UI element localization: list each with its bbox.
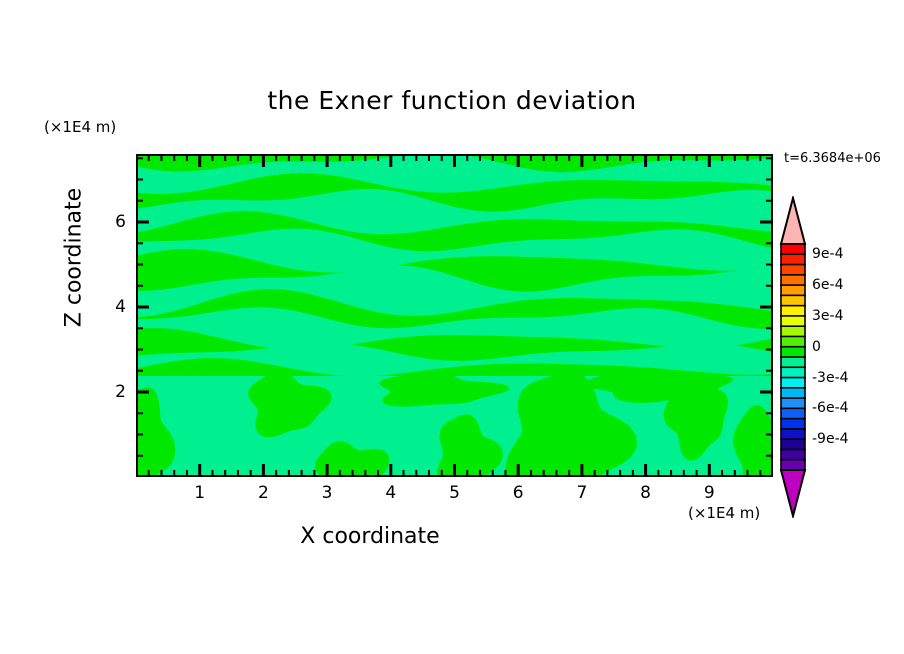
y-tick-label: 4 [102,297,126,317]
colorbar-over-tip [781,198,805,244]
colorbar-swatch [781,439,805,450]
colorbar-swatch [781,326,805,337]
x-tick-label: 8 [640,483,651,503]
colorbar-tick-label: 9e-4 [812,246,843,262]
colorbar-tick-label: 3e-4 [812,308,843,324]
x-tick-label: 6 [513,483,524,503]
colorbar [778,196,808,518]
colorbar-swatch [781,398,805,409]
chart-title: the Exner function deviation [0,86,904,115]
colorbar-under-tip [781,470,805,516]
contour-plot-area [136,154,773,477]
colorbar-swatch [781,388,805,399]
y-axis-title: Z coordinate [62,158,87,358]
colorbar-swatch [781,419,805,430]
colorbar-swatch [781,275,805,286]
colorbar-swatch [781,460,805,471]
colorbar-swatch [781,295,805,306]
colorbar-tick-label: -9e-4 [812,431,849,447]
colorbar-gradient [778,196,808,518]
colorbar-swatch [781,316,805,327]
colorbar-swatch [781,347,805,358]
x-axis-title: X coordinate [0,524,740,549]
colorbar-swatch [781,244,805,255]
colorbar-tick-label: 6e-4 [812,277,843,293]
colorbar-swatch [781,336,805,347]
colorbar-swatch [781,306,805,317]
y-tick-label: 2 [102,382,126,402]
colorbar-tick-label: -3e-4 [812,370,849,386]
contour-field [136,154,773,477]
colorbar-swatch [781,285,805,296]
x-tick-label: 2 [258,483,269,503]
x-tick-label: 5 [449,483,460,503]
y-axis-unit-label: (×1E4 m) [44,118,116,136]
x-axis-unit-label: (×1E4 m) [688,504,760,522]
y-tick-label: 6 [102,212,126,232]
colorbar-tick-label: -6e-4 [812,400,849,416]
colorbar-tick-label: 0 [812,339,821,355]
timestamp-annotation: t=6.3684e+06 [784,151,881,166]
colorbar-swatch [781,408,805,419]
colorbar-swatch [781,367,805,378]
colorbar-swatch [781,449,805,460]
x-tick-label: 3 [322,483,333,503]
x-tick-label: 7 [576,483,587,503]
figure-canvas: the Exner function deviation (×1E4 m) (×… [0,0,904,654]
x-tick-label: 4 [385,483,396,503]
colorbar-swatch [781,265,805,276]
colorbar-swatch [781,254,805,265]
colorbar-swatch [781,357,805,368]
colorbar-swatch [781,429,805,440]
colorbar-swatch [781,378,805,389]
x-tick-label: 9 [704,483,715,503]
x-tick-label: 1 [194,483,205,503]
